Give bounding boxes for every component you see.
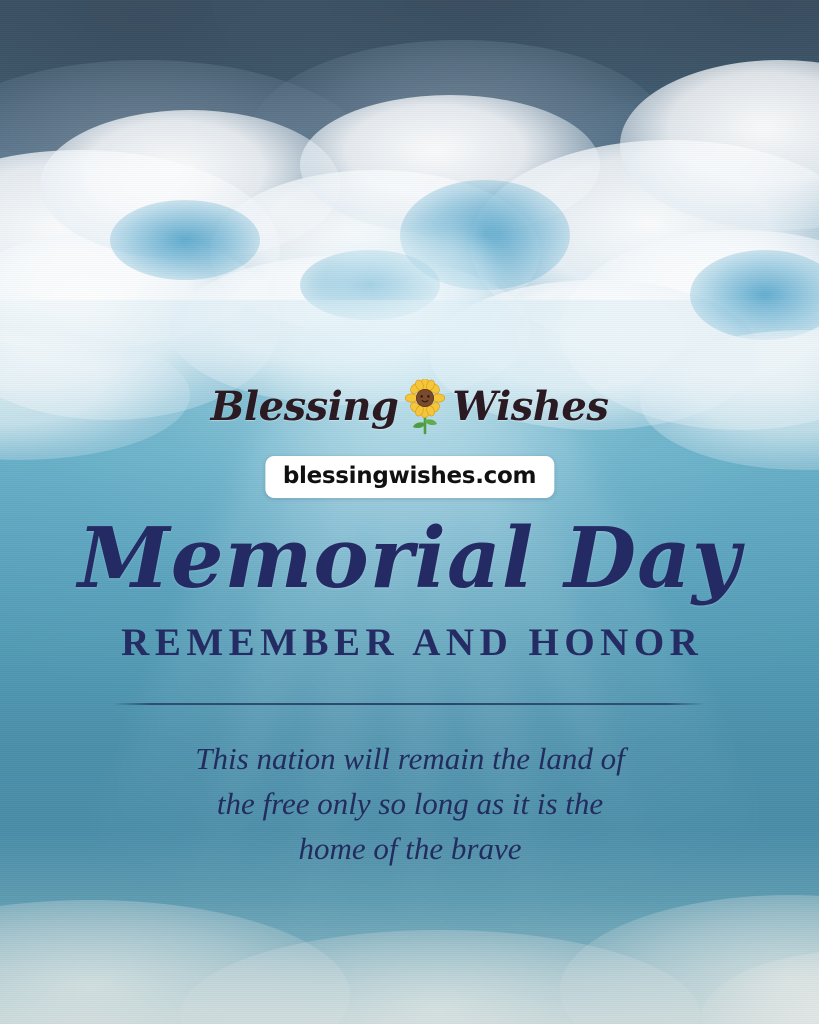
page-title: Memorial Day [0,512,819,605]
quote-line-3: home of the brave [120,827,700,872]
website-url-badge[interactable]: blessingwishes.com [265,456,554,498]
card-content: Blessing [0,0,819,1024]
logo-word-blessing: Blessing [211,387,399,427]
memorial-day-card: Blessing [0,0,819,1024]
sunflower-icon [402,379,448,435]
quote-line-2: the free only so long as it is the [120,782,700,827]
page-subtitle: REMEMBER AND HONOR [0,622,819,665]
quote-line-1: This nation will remain the land of [120,737,700,782]
quote-text: This nation will remain the land of the … [120,737,700,872]
logo-word-wishes: Wishes [452,387,608,427]
brand-logo[interactable]: Blessing [0,378,819,436]
divider [115,703,703,705]
